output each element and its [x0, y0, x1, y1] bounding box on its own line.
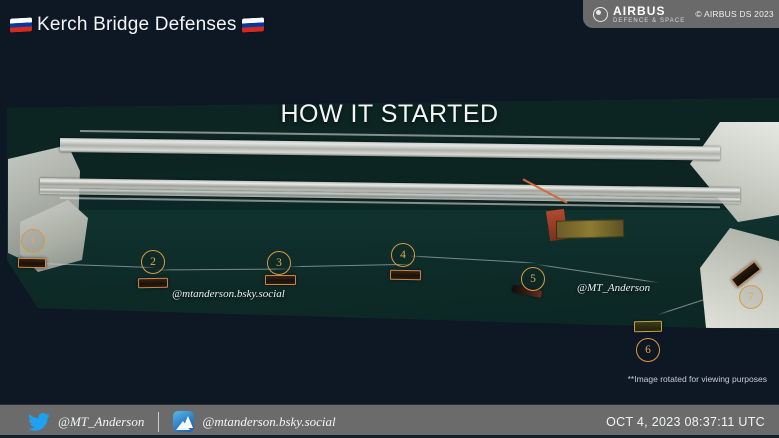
- overlay-headline: HOW IT STARTED: [0, 100, 779, 129]
- marker-5-label: 5: [530, 273, 536, 285]
- footer-divider: [158, 412, 159, 432]
- russia-flag-icon-right: [242, 17, 264, 32]
- marker-4[interactable]: 4: [391, 243, 415, 267]
- marker-6-label: 6: [645, 344, 651, 356]
- marker-2-label: 2: [150, 256, 156, 268]
- marker-3[interactable]: 3: [267, 251, 291, 275]
- marker-6[interactable]: 6: [636, 338, 660, 362]
- page-title-text: Kerch Bridge Defenses: [37, 14, 237, 36]
- airbus-roundel-icon: [593, 7, 608, 22]
- marker-2[interactable]: 2: [141, 250, 165, 274]
- airbus-watermark-badge: AIRBUS DEFENCE & SPACE © AIRBUS DS 2023: [583, 0, 779, 28]
- airbus-brand-subtitle: DEFENCE & SPACE: [613, 18, 685, 24]
- airbus-copyright: © AIRBUS DS 2023: [695, 9, 773, 19]
- russia-flag-icon-left: [10, 17, 32, 32]
- page-title: Kerch Bridge Defenses: [10, 14, 264, 36]
- screenshot-root: Kerch Bridge Defenses AIRBUS DEFENCE & S…: [0, 0, 779, 438]
- twitter-handle-text: @MT_Anderson: [58, 414, 144, 430]
- marker-3-label: 3: [276, 257, 282, 269]
- marker-7[interactable]: 7: [739, 285, 763, 309]
- satellite-image-panel: HOW IT STARTED 1 2 3 4 5 6 7 @m: [0, 60, 779, 400]
- bsky-handle-group[interactable]: @mtanderson.bsky.social: [173, 411, 335, 432]
- watermark-twitter: @MT_Anderson: [577, 282, 650, 294]
- marker-1[interactable]: 1: [21, 229, 45, 253]
- airbus-logo: AIRBUS DEFENCE & SPACE: [593, 5, 685, 24]
- airbus-brand-name: AIRBUS: [613, 5, 685, 17]
- rotation-note: **Image rotated for viewing purposes: [628, 374, 767, 384]
- twitter-handle-group[interactable]: @MT_Anderson: [28, 413, 144, 431]
- footer-bar: @MT_Anderson @mtanderson.bsky.social OCT…: [0, 404, 779, 438]
- barge-2: [138, 278, 168, 289]
- barge-3: [265, 275, 296, 285]
- twitter-bird-icon: [28, 413, 50, 431]
- repair-barge-on-bridge: [556, 219, 624, 238]
- marker-7-label: 7: [748, 291, 754, 303]
- barge-1: [18, 258, 46, 268]
- bsky-handle-text: @mtanderson.bsky.social: [202, 414, 335, 430]
- marker-5[interactable]: 5: [521, 267, 545, 291]
- marker-4-label: 4: [400, 249, 406, 261]
- marker-1-label: 1: [30, 235, 36, 247]
- capture-timestamp: OCT 4, 2023 08:37:11 UTC: [606, 415, 765, 429]
- barge-6: [634, 321, 662, 332]
- water-area: [0, 210, 779, 400]
- page-header: Kerch Bridge Defenses AIRBUS DEFENCE & S…: [0, 0, 779, 60]
- barge-4: [390, 270, 421, 281]
- bluesky-butterfly-icon: [173, 411, 194, 432]
- bridge-road-span: [60, 138, 720, 161]
- watermark-bsky: @mtanderson.bsky.social: [172, 288, 285, 300]
